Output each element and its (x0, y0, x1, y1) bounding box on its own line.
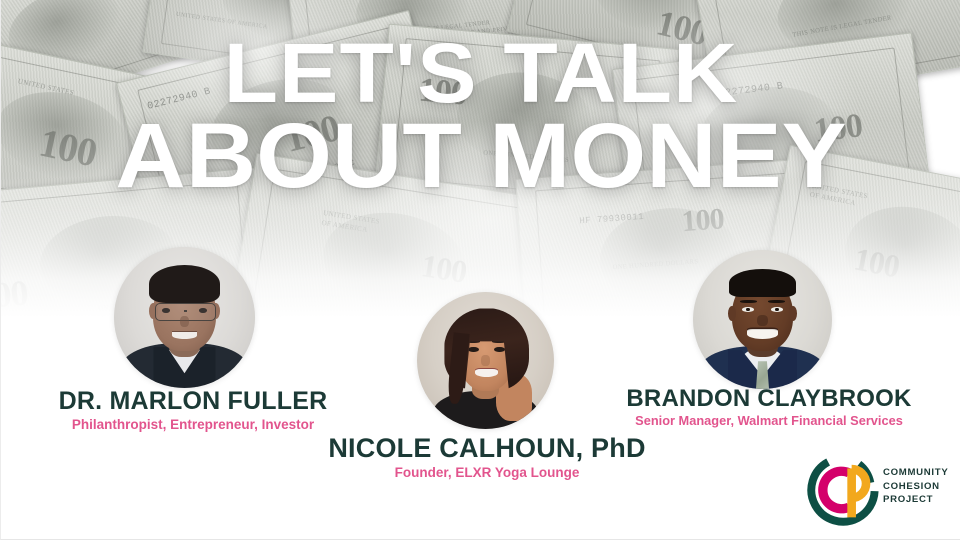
logo-text-line-1: COMMUNITY (883, 466, 948, 480)
speaker-role: Founder, ELXR Yoga Lounge (295, 466, 679, 481)
logo-text-line-3: PROJECT (883, 493, 948, 507)
avatar-nicole-calhoun (417, 292, 554, 429)
portrait-illustration (693, 250, 832, 389)
portrait-illustration (114, 247, 255, 388)
logo-text-line-2: COHESION (883, 480, 948, 494)
avatar-marlon-fuller (114, 247, 255, 388)
logo-wordmark: COMMUNITY COHESION PROJECT (883, 466, 948, 507)
speaker-credit-nicole-calhoun: NICOLE CALHOUN, PhD Founder, ELXR Yoga L… (295, 435, 679, 480)
community-cohesion-project-logo: COMMUNITY COHESION PROJECT (807, 452, 955, 528)
speaker-name: NICOLE CALHOUN, PhD (295, 435, 679, 463)
speaker-credit-marlon-fuller: DR. MARLON FULLER Philanthropist, Entrep… (1, 389, 385, 432)
presentation-slide: 100 J10 100 UNITED STATES OF AMERICA J10… (0, 0, 960, 540)
page-title: LET'S TALK ABOUT MONEY (1, 34, 960, 199)
title-line-1: LET'S TALK (0, 34, 960, 113)
portrait-illustration (417, 292, 554, 429)
speaker-name: DR. MARLON FULLER (1, 389, 385, 415)
title-line-2: ABOUT MONEY (0, 113, 960, 199)
speaker-name: BRANDON CLAYBROOK (577, 387, 960, 411)
cp-monogram-icon (807, 454, 879, 526)
speaker-role: Senior Manager, Walmart Financial Servic… (577, 414, 960, 428)
avatar-brandon-claybrook (693, 250, 832, 389)
speaker-role: Philanthropist, Entrepreneur, Investor (1, 418, 385, 433)
speaker-credit-brandon-claybrook: BRANDON CLAYBROOK Senior Manager, Walmar… (577, 387, 960, 429)
